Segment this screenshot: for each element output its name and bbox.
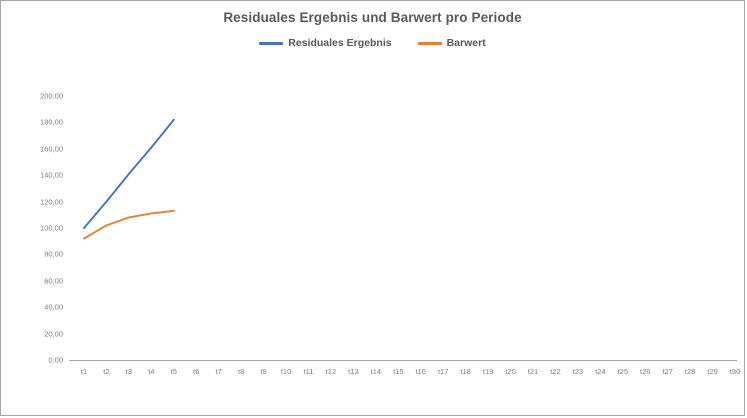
series-line	[84, 211, 174, 239]
chart-container: Residuales Ergebnis und Barwert pro Peri…	[0, 0, 745, 416]
plot-area: 200,00180,00160,00140,00120,00100,0080,0…	[1, 1, 746, 417]
series-lines	[1, 1, 746, 417]
